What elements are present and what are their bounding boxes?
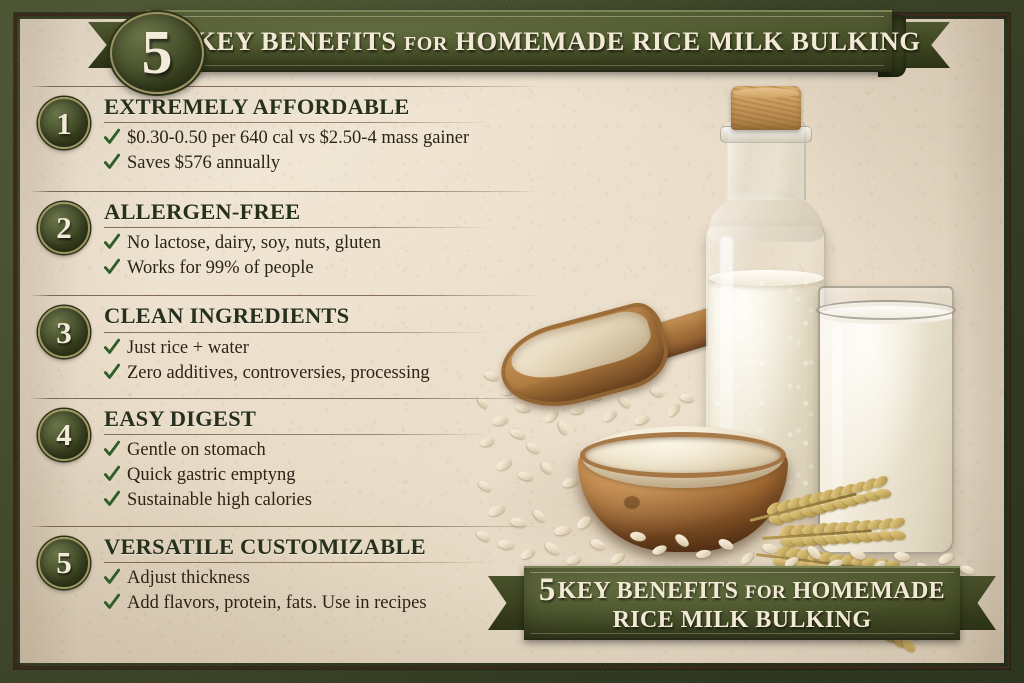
benefit-number: 2: [56, 212, 72, 243]
header-ribbon: KEY BENEFITS FOR HOMEMADE RICE MILK BULK…: [88, 10, 950, 78]
benefit-bullet-text: Adjust thickness: [127, 566, 250, 591]
benefit-bullet: Quick gastric emptyng: [104, 463, 546, 488]
benefit-bullet: Add flavors, protein, fats. Use in recip…: [104, 591, 546, 616]
bottom-ribbon: 5KEY BENEFITS FOR HOMEMADE RICE MILK BUL…: [488, 566, 996, 642]
benefit-bullet-text: Works for 99% of people: [127, 256, 314, 281]
bottom-ribbon-line1: 5KEY BENEFITS FOR HOMEMADE: [539, 573, 945, 608]
benefit-bullet: Sustainable high calories: [104, 488, 546, 513]
bottom-ribbon-line1-rest: HOMEMADE: [793, 578, 946, 604]
bottom-ribbon-body: 5KEY BENEFITS FOR HOMEMADE RICE MILK BUL…: [524, 566, 960, 640]
bottom-ribbon-text: 5KEY BENEFITS FOR HOMEMADE RICE MILK BUL…: [529, 573, 955, 633]
glass-rim: [816, 300, 956, 320]
benefit-item-3: 3CLEAN INGREDIENTSJust rice + waterZero …: [26, 295, 546, 386]
benefit-item-4: 4EASY DIGESTGentle on stomachQuick gastr…: [26, 398, 546, 514]
benefit-bullet: $0.30-0.50 per 640 cal vs $2.50-4 mass g…: [104, 126, 546, 151]
benefit-number-badge: 1: [38, 97, 90, 149]
checkmark-icon: [104, 363, 120, 383]
bowl-rim: [580, 432, 786, 478]
benefit-bullet: Works for 99% of people: [104, 256, 546, 281]
checkmark-icon: [104, 233, 120, 253]
checkmark-icon: [104, 465, 120, 485]
benefit-heading: VERSATILE CUSTOMIZABLE: [104, 526, 546, 559]
benefit-item-5: 5VERSATILE CUSTOMIZABLEAdjust thicknessA…: [26, 526, 546, 617]
illustration-rice-milk-scene: [470, 20, 1004, 580]
cork-stopper-icon: [731, 86, 801, 130]
header-number: 5: [142, 22, 173, 84]
benefit-item-2: 2ALLERGEN-FREENo lactose, dairy, soy, nu…: [26, 191, 546, 282]
benefit-bullet: No lactose, dairy, soy, nuts, gluten: [104, 231, 546, 256]
benefit-number-badge: 4: [38, 409, 90, 461]
heading-underline: [104, 434, 492, 435]
benefit-bullet: Gentle on stomach: [104, 438, 546, 463]
heading-underline: [104, 122, 492, 123]
checkmark-icon: [104, 258, 120, 278]
checkmark-icon: [104, 593, 120, 613]
checkmark-icon: [104, 568, 120, 588]
benefit-bullet-text: Gentle on stomach: [127, 438, 266, 463]
benefit-bullet-text: Just rice + water: [127, 336, 249, 361]
benefit-heading: EASY DIGEST: [104, 398, 546, 431]
benefit-bullet: Saves $576 annually: [104, 151, 546, 176]
benefit-number-badge: 2: [38, 202, 90, 254]
benefit-number: 3: [56, 317, 72, 348]
section-divider: [30, 191, 540, 192]
header-title-rest: HOMEMADE RICE MILK BULKING: [455, 26, 920, 56]
benefit-number-badge: 5: [38, 537, 90, 589]
benefit-bullet-text: Saves $576 annually: [127, 151, 280, 176]
benefit-bullet: Zero additives, controversies, processin…: [104, 361, 546, 386]
page-title: KEY BENEFITS FOR HOMEMADE RICE MILK BULK…: [117, 26, 920, 57]
header-number-medallion: 5: [110, 12, 204, 94]
bottom-ribbon-line1-for: FOR: [745, 582, 786, 603]
benefit-bullet-text: Quick gastric emptyng: [127, 463, 296, 488]
benefits-list: 1EXTREMELY AFFORDABLE$0.30-0.50 per 640 …: [26, 86, 546, 616]
benefit-bullet-text: Sustainable high calories: [127, 488, 312, 513]
section-divider: [30, 526, 540, 527]
benefit-number: 1: [56, 108, 72, 139]
heading-underline: [104, 562, 492, 563]
section-divider: [30, 86, 540, 87]
heading-underline: [104, 332, 492, 333]
header-title-for: FOR: [404, 33, 448, 55]
benefit-heading: CLEAN INGREDIENTS: [104, 295, 546, 328]
benefit-item-1: 1EXTREMELY AFFORDABLE$0.30-0.50 per 640 …: [26, 86, 546, 177]
bottom-ribbon-line1-main: KEY BENEFITS: [558, 578, 739, 604]
benefit-heading: ALLERGEN-FREE: [104, 191, 546, 224]
benefit-bullet-text: $0.30-0.50 per 640 cal vs $2.50-4 mass g…: [127, 126, 469, 151]
checkmark-icon: [104, 338, 120, 358]
checkmark-icon: [104, 440, 120, 460]
infographic-poster: KEY BENEFITS FOR HOMEMADE RICE MILK BULK…: [0, 0, 1024, 683]
ribbon-body: KEY BENEFITS FOR HOMEMADE RICE MILK BULK…: [146, 10, 892, 72]
header-title-main: KEY BENEFITS: [195, 26, 396, 56]
checkmark-icon: [104, 153, 120, 173]
benefit-bullet: Adjust thickness: [104, 566, 546, 591]
benefit-bullet-text: Zero additives, controversies, processin…: [127, 361, 430, 386]
checkmark-icon: [104, 128, 120, 148]
benefit-bullet: Just rice + water: [104, 336, 546, 361]
benefit-number: 4: [56, 419, 72, 450]
section-divider: [30, 398, 540, 399]
benefit-number-badge: 3: [38, 306, 90, 358]
heading-underline: [104, 227, 492, 228]
checkmark-icon: [104, 490, 120, 510]
bottom-ribbon-line2: RICE MILK BULKING: [539, 608, 945, 633]
benefit-bullet-text: No lactose, dairy, soy, nuts, gluten: [127, 231, 381, 256]
benefit-number: 5: [56, 547, 72, 578]
benefit-bullet-text: Add flavors, protein, fats. Use in recip…: [127, 591, 427, 616]
bottom-ribbon-number: 5: [539, 572, 556, 608]
section-divider: [30, 295, 540, 296]
